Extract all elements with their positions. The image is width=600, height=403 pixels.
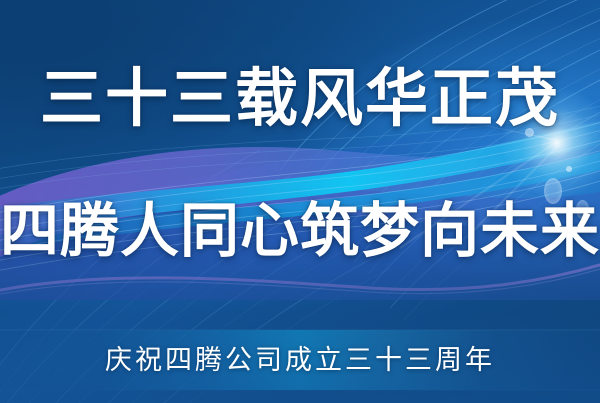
headline-line-2: 四腾人同心筑梦向未来 [0,196,600,266]
anniversary-banner: 三十三载风华正茂 四腾人同心筑梦向未来 庆祝四腾公司成立三十三周年 [0,0,600,403]
bokeh-circle [566,166,572,172]
headline-line-1: 三十三载风华正茂 [0,62,600,136]
subtitle-text: 庆祝四腾公司成立三十三周年 [0,341,600,379]
